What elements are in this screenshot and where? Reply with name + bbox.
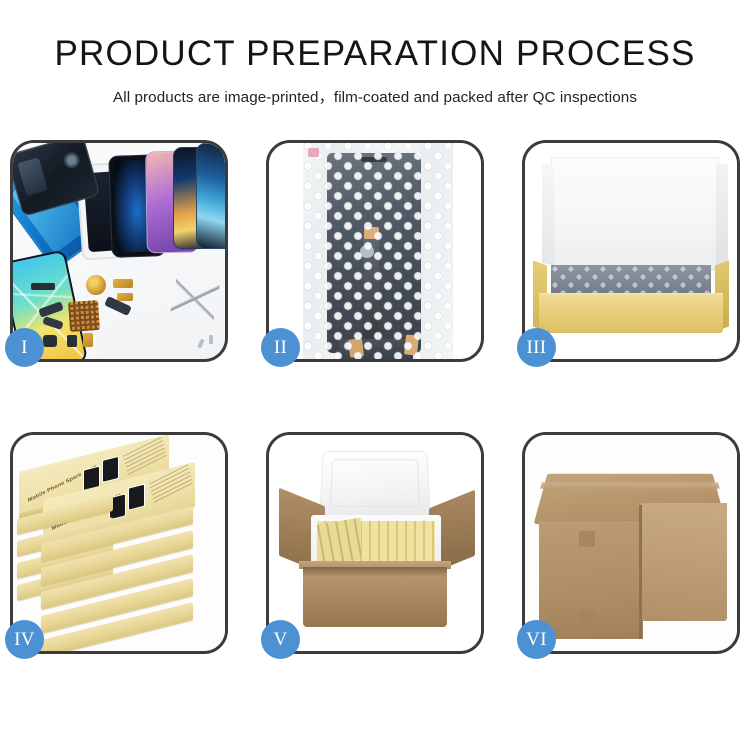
step-card-5[interactable]: V <box>266 432 484 654</box>
tape-patch-top-icon <box>579 531 595 547</box>
tweezers-icon <box>170 274 221 325</box>
steps-grid: I II <box>10 140 740 675</box>
step-image-5 <box>269 435 481 651</box>
step-badge-2: II <box>261 328 300 367</box>
tape-patch-bottom-icon <box>579 611 595 627</box>
step-card-4[interactable]: Mobile Phone Spare Parts Mobile Phone Sp… <box>10 432 228 654</box>
gold-contact-icon <box>117 293 133 301</box>
carton-inner-shadow <box>303 567 447 577</box>
step-image-1 <box>13 143 225 359</box>
box-phone-image-2 <box>102 456 119 483</box>
step-image-2 <box>269 143 481 359</box>
product-preparation-infographic: PRODUCT PREPARATION PROCESS All products… <box>0 0 750 750</box>
page-subtitle: All products are image-printed，film-coat… <box>0 85 750 107</box>
step-card-3[interactable]: III <box>522 140 740 362</box>
foam-sheet-icon <box>555 195 713 267</box>
screw-icon <box>209 335 213 344</box>
step-image-3 <box>525 143 737 359</box>
camera-module-icon <box>86 275 106 295</box>
step-badge-1: I <box>5 328 44 367</box>
box-phone-image-4 <box>128 484 145 511</box>
box-stack: Mobile Phone Spare Parts Mobile Phone Sp… <box>15 445 225 650</box>
step-card-1[interactable]: I <box>10 140 228 362</box>
step-card-6[interactable]: VI <box>522 432 740 654</box>
pink-label-icon <box>308 148 319 157</box>
step-card-2[interactable]: II <box>266 140 484 362</box>
step-badge-6: VI <box>517 620 556 659</box>
earpiece-speaker-icon <box>31 283 55 290</box>
speaker-module-icon <box>43 335 57 347</box>
bubble-wrap-bag <box>303 143 453 359</box>
carton-side-face-icon <box>641 503 727 621</box>
page-title: PRODUCT PREPARATION PROCESS <box>0 36 750 71</box>
step-badge-5: V <box>261 620 300 659</box>
sim-tray-icon <box>83 333 93 347</box>
carton-tape-icon <box>540 482 720 488</box>
gold-flex-connector-icon <box>113 279 133 288</box>
carton-corner-edge <box>639 505 642 639</box>
yellow-boxes-contents-2-icon <box>317 518 361 567</box>
kraft-box-front-icon <box>539 297 723 333</box>
step-image-6 <box>525 435 737 651</box>
styrofoam-lid-icon <box>319 451 431 517</box>
step-badge-3: III <box>517 328 556 367</box>
phone-display-blue-icon <box>196 143 225 249</box>
screw-2-icon <box>197 339 204 349</box>
ic-chip-grid-icon <box>68 300 100 332</box>
small-part-icon <box>67 335 77 347</box>
header: PRODUCT PREPARATION PROCESS All products… <box>0 0 750 107</box>
step-badge-4: IV <box>5 620 44 659</box>
step-image-4: Mobile Phone Spare Parts Mobile Phone Sp… <box>13 435 225 651</box>
bubble-texture <box>303 143 453 359</box>
